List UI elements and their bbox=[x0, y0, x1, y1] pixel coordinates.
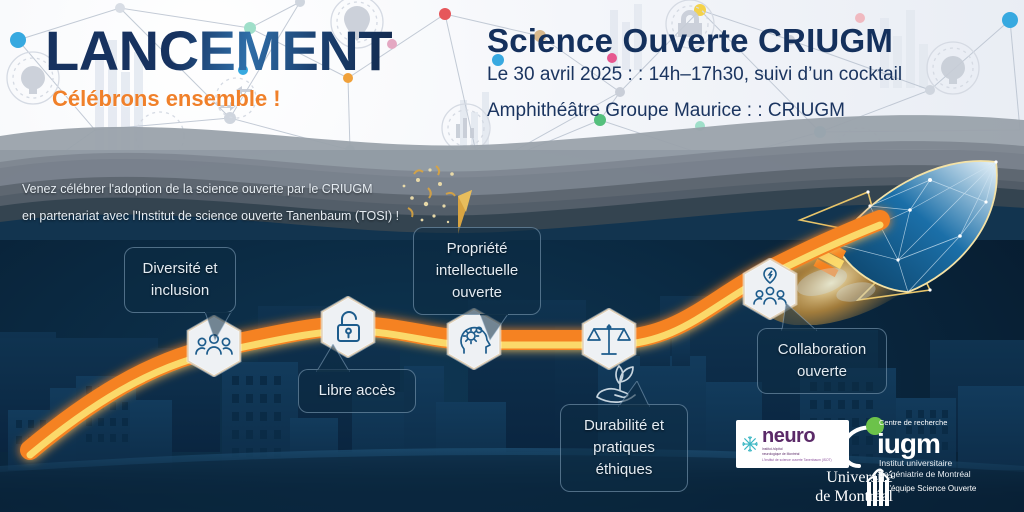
page-title: LANCEMENT bbox=[45, 18, 392, 83]
callout-durabilite[interactable]: Durabilité et pratiques éthiques bbox=[560, 404, 688, 492]
callout-durabilite-line-3: éthiques bbox=[575, 459, 673, 481]
neuro-line-1: Institut-hôpital bbox=[762, 447, 832, 452]
callout-durabilite-line-2: pratiques bbox=[575, 437, 673, 459]
callout-tail bbox=[476, 314, 510, 342]
callout-collaboration[interactable]: Collaboration ouverte bbox=[757, 328, 887, 394]
callout-diversite-line-2: inclusion bbox=[139, 280, 221, 302]
callout-propriete[interactable]: Propriété intellectuelle ouverte bbox=[413, 227, 541, 315]
callout-tail bbox=[311, 344, 351, 372]
callout-diversite-line-1: Diversité et bbox=[139, 258, 221, 280]
logo-neuro: neuro Institut-hôpital neurologique de M… bbox=[736, 420, 849, 468]
iugm-line-1-text: Institut universitaire bbox=[879, 458, 971, 469]
iugm-top-line: Centre de recherche bbox=[879, 418, 947, 427]
callout-tail bbox=[613, 381, 653, 407]
callout-tail bbox=[776, 303, 820, 331]
iugm-line-2-text: de géniatrie de Montréal bbox=[879, 469, 971, 480]
snowflake-icon bbox=[741, 435, 759, 453]
neuro-line-2: neurologique de Montréal bbox=[762, 452, 832, 457]
callout-libre-acces-line-1: Libre accès bbox=[313, 380, 401, 402]
neuro-line-3: L'Institut de science ouverte Tanenbaum … bbox=[762, 458, 832, 463]
iugm-line-1: Institut universitaire de géniatrie de M… bbox=[879, 458, 971, 480]
callout-propriete-line-2: intellectuelle bbox=[428, 260, 526, 282]
neuro-wordmark: neuro bbox=[762, 426, 832, 446]
logo-bar: neuro Institut-hôpital neurologique de M… bbox=[725, 408, 1024, 512]
event-datetime: Le 30 avril 2025 : : 14h–17h30, suivi d’… bbox=[487, 64, 902, 86]
callout-tail bbox=[201, 312, 233, 342]
callout-propriete-line-1: Propriété bbox=[428, 238, 526, 260]
page-subtitle: Célébrons ensemble ! bbox=[52, 86, 281, 112]
callout-collaboration-line-2: ouverte bbox=[772, 361, 872, 383]
callout-durabilite-line-1: Durabilité et bbox=[575, 415, 673, 437]
callout-diversite[interactable]: Diversité et inclusion bbox=[124, 247, 236, 313]
event-title: Science Ouverte CRIUGM bbox=[487, 22, 893, 60]
poster-canvas: LANCEMENT Célébrons ensemble ! Science O… bbox=[0, 0, 1024, 512]
iugm-tagline: L'équipe Science Ouverte bbox=[885, 484, 976, 493]
callout-collaboration-line-1: Collaboration bbox=[772, 339, 872, 361]
iugm-wordmark: iugm bbox=[877, 430, 940, 458]
callout-propriete-line-3: ouverte bbox=[428, 282, 526, 304]
callout-libre-acces[interactable]: Libre accès bbox=[298, 369, 416, 413]
